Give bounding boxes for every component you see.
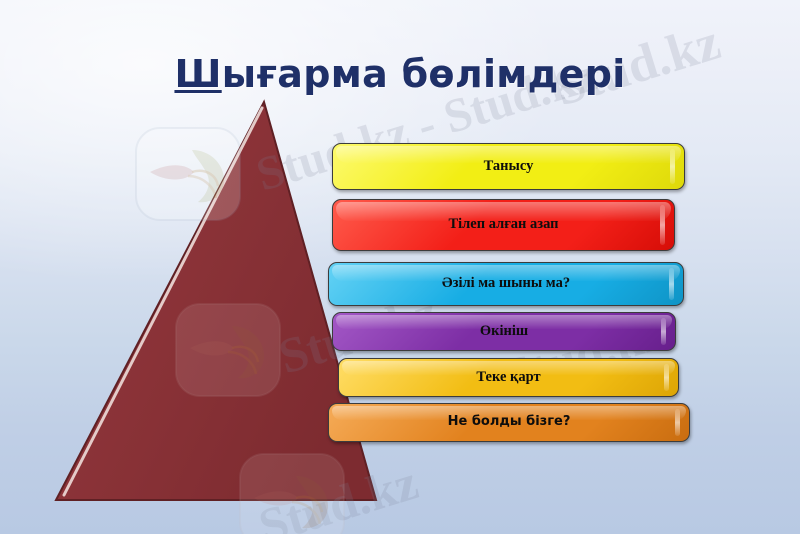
section-bar-label: Танысу [470,159,548,175]
section-bar-tilep-algan-azap[interactable]: Тілеп алған азап [332,199,675,251]
section-bar-label: Әзілі ма шыны ма? [428,276,584,292]
section-bar-label: Тілеп алған азап [434,217,572,233]
section-bar-label: Не болды бізге? [434,415,585,429]
page-title-rest: ығарма бөлімдері [222,52,626,96]
section-bar-label: Өкініш [466,324,542,340]
section-bar-tanysu[interactable]: Танысу [332,143,685,190]
section-bar-okinish[interactable]: Өкініш [332,312,676,351]
presentation-slide: Stud.kz Stud.kz - Stud.kz Stud.kz Stud.k… [0,0,800,534]
page-title-first-letter: Ш [174,52,221,96]
section-bar-ne-boldy-bizge[interactable]: Не болды бізге? [328,403,690,442]
page-title: Шығарма бөлімдері [0,52,800,96]
section-bar-azili-ma-shyny-ma[interactable]: Әзілі ма шыны ма? [328,262,684,306]
section-bar-teke-qart[interactable]: Теке қарт [338,358,679,397]
section-bar-label: Теке қарт [462,370,554,386]
